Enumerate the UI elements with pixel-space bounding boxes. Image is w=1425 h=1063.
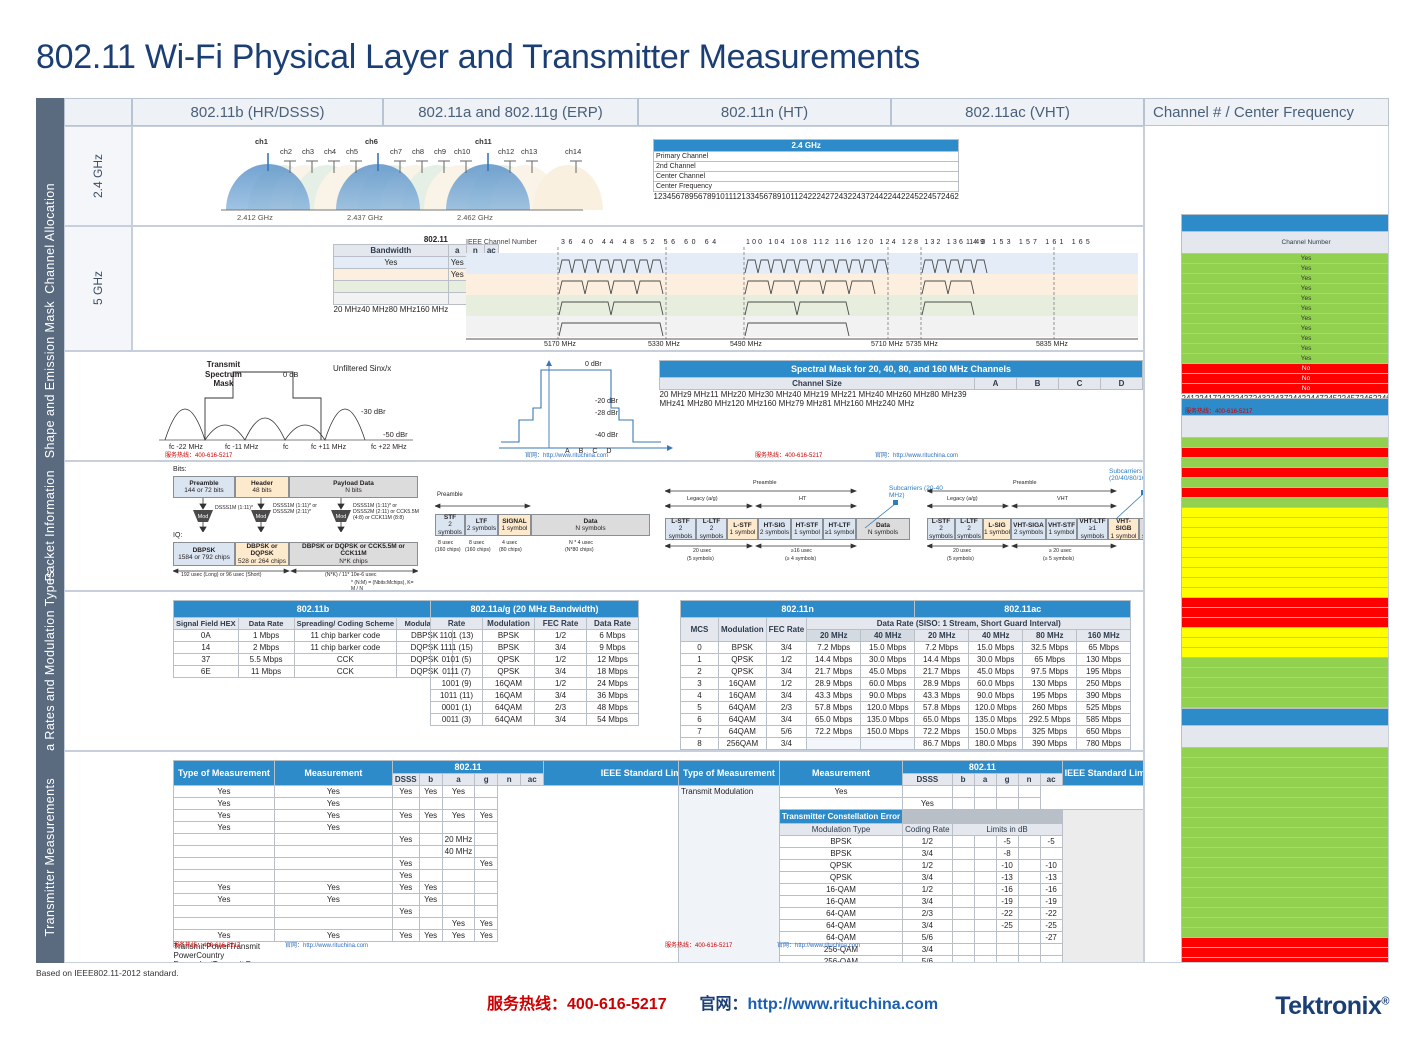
table-title: 5 GHz <box>1182 709 1390 726</box>
packet-diagram-11b: Bits: Preamble144 or 72 bits Header48 bi… <box>173 466 418 588</box>
table-cell: 910111213 <box>711 192 750 201</box>
table-cell <box>1040 848 1062 860</box>
table-cell: BPSK <box>483 630 535 642</box>
row-label-text: Packet Information <box>43 470 57 581</box>
column-header: Type of Measurement <box>174 761 275 786</box>
table-cell: 780 Mbps <box>1077 738 1131 750</box>
table-cell <box>392 918 419 930</box>
table-row: YesYesIndoors <box>1182 748 1390 758</box>
table-row: YesYesYesYes <box>1182 354 1390 364</box>
table-cell: 24 Mbps <box>587 678 639 690</box>
table-row: Yes <box>174 870 744 882</box>
table-cell: 64-QAM <box>779 920 902 932</box>
table-cell: Yes <box>1182 888 1390 898</box>
inline-ritu-web-3: 官网：http://www.rituchina.com <box>285 940 368 949</box>
website-url[interactable]: http://www.rituchina.com <box>748 996 939 1013</box>
table-row: YesYes <box>174 858 744 870</box>
table-cell: 292.5 Mbps <box>1023 714 1077 726</box>
table-cell <box>392 798 419 810</box>
table-cell <box>419 870 442 882</box>
table-row: YesDFS/TPCIndoors <box>1182 828 1390 838</box>
ch-label: ch11 <box>475 137 492 146</box>
table-row: YesYes <box>174 918 744 930</box>
table-cell: DFS <box>1182 588 1390 598</box>
table-cell: 5 <box>681 702 719 714</box>
table-row: YesYesYesYes <box>1182 344 1390 354</box>
ac-box-0: L-STF2 symbols <box>927 518 955 540</box>
table-cell <box>174 870 275 882</box>
table-cell: CCK <box>294 654 397 666</box>
chan-5-b-table-wrap: 5 GHzChannel NumberCenter FrequencyKorea… <box>1181 708 1389 963</box>
table-cell: 72.2 Mbps <box>807 726 861 738</box>
rates-11ag-table: 802.11a/g (20 MHz Bandwidth)RateModulati… <box>430 600 639 726</box>
table-cell: -19 <box>1040 896 1062 908</box>
table-cell <box>442 798 475 810</box>
table-cell: 3 <box>681 678 719 690</box>
table-cell: Yes <box>1182 458 1390 468</box>
table-row: 375.5 MbpsCCKDQPSK <box>174 654 453 666</box>
table-cell: 24422442245224572462 <box>870 192 959 201</box>
column-header: Channel Number <box>1182 416 1390 438</box>
table-cell: Yes <box>174 798 275 810</box>
table-cell: -25 <box>1040 920 1062 932</box>
table-cell: No <box>1182 488 1390 498</box>
table-cell: Yes <box>174 882 275 894</box>
table-cell <box>1018 920 1040 932</box>
ofdm-spectrum-mask-diagram <box>489 356 679 456</box>
table-row: YesYesYesYes <box>1182 324 1390 334</box>
iq-box-2: DBPSK or DQPSK or CCK5.5M or CCK11MN*K c… <box>289 542 418 566</box>
table-row: 416QAM3/443.3 Mbps90.0 Mbps43.3 Mbps90.0… <box>681 690 1131 702</box>
table-title-ac: 802.11ac <box>915 601 1131 618</box>
table-cell: 3/4 <box>766 690 807 702</box>
dsss-unfiltered-label: Unfiltered Sinx/x <box>333 364 391 373</box>
table-cell: 120.0 Mbps <box>861 702 915 714</box>
bits-label: Bits: <box>173 466 187 473</box>
band-label-text: 5 GHz <box>91 271 105 305</box>
table-row: YesYesIndoors <box>1182 808 1390 818</box>
table-cell: Yes <box>334 257 449 269</box>
table-header-row: Channel NumberCenter FrequencyNorth Amer… <box>1182 232 1390 254</box>
table-cell: 11 chip barker code <box>294 630 397 642</box>
column-header: MCS <box>681 618 719 642</box>
table-cell: 78910111213 <box>702 192 750 201</box>
column-header: Modulation <box>483 618 535 630</box>
mod-note-1: DSSS1M (1:11)* or DSSS2M (2:11)* <box>273 504 325 516</box>
dsss-mask-label-l1: Transmit <box>207 360 240 369</box>
table-cell: 1/2 <box>903 860 952 872</box>
table-cell: 32.5 Mbps <box>1023 642 1077 654</box>
table-row: YesSRDNoYes <box>1182 688 1390 698</box>
table-cell <box>475 870 498 882</box>
table-cell: 90.0 Mbps <box>969 690 1023 702</box>
row-label-text: Data Rates and Modulation Types <box>43 571 57 771</box>
table-cell <box>174 834 275 846</box>
column-header: B <box>1017 378 1059 390</box>
table-cell: DFS <box>1182 638 1390 648</box>
packet-diagram-11n: Preamble Legacy (a/g) HT L-STF2 symbols … <box>665 480 910 575</box>
table-cell: 9 Mbps <box>587 642 639 654</box>
n-box-2: L-STF1 symbol <box>727 518 758 540</box>
table-cell <box>952 896 974 908</box>
table-row: Transmit ModulationYes <box>679 786 1145 798</box>
table-cell: 45.0 Mbps <box>969 666 1023 678</box>
table-cell: -16 <box>996 884 1018 896</box>
ch-label: ch9 <box>434 147 446 156</box>
table-cell <box>442 858 475 870</box>
table-row: DFSDFS/TPCDFS/TPCNo <box>1182 628 1390 638</box>
row-label: Primary Channel <box>654 152 959 162</box>
column-header: A <box>975 378 1017 390</box>
table-row: YesYesYesYes <box>1182 304 1390 314</box>
ofdm-level-28: -28 dBr <box>595 410 618 417</box>
table-cell <box>1018 872 1040 884</box>
table-row: YesYesYesYesYes <box>174 786 744 798</box>
table-row: 142 Mbps11 chip barker codeDQPSK <box>174 642 453 654</box>
table-cell: 3/4 <box>766 666 807 678</box>
table-cell: 64QAM <box>483 702 535 714</box>
table-cell <box>1018 836 1040 848</box>
column-header-11n: 802.11n (HT) <box>638 98 891 126</box>
table-cell: Yes <box>392 882 419 894</box>
column-header: Data Rate <box>238 618 294 630</box>
table-cell: BPSK <box>779 848 902 860</box>
n-legacy-label: Legacy (a/g) <box>687 496 718 502</box>
column-header: C <box>1059 378 1101 390</box>
table-cell: Yes <box>475 930 498 942</box>
channel-allocation-5-cell: 802.11 BandwidthanacYesYesYesYesYesYesYe… <box>132 226 1144 351</box>
table-row: 1101 (13)BPSK1/26 Mbps <box>431 630 639 642</box>
table-row: DFSIndoors/DFS/TPCDFS/TPCYes <box>1182 528 1390 538</box>
spacer-cell <box>1062 810 1144 964</box>
table-cell: 16QAM <box>719 690 767 702</box>
column-header: a <box>448 245 466 257</box>
table-cell: DFS <box>1182 518 1390 528</box>
type-label: Transmit Modulation <box>679 786 780 964</box>
table-cell <box>952 956 974 964</box>
table-cell <box>174 906 275 918</box>
ch-label: ch8 <box>412 147 424 156</box>
tx-meas-left-table: Type of MeasurementMeasurement802.11IEEE… <box>173 760 744 963</box>
table-cell: 65.0 Mbps <box>915 714 969 726</box>
table-cell: 3/4 <box>535 642 587 654</box>
column-header: Rate <box>431 618 483 630</box>
table-cell: Yes <box>1182 698 1390 708</box>
table-cell: Yes <box>1182 284 1390 294</box>
data-rates-cell: 802.11bSignal Field HEXData RateSpreadin… <box>64 591 1144 751</box>
packet-diagram-11ag: Preamble STF2 symbols LTF2 symbols SIGNA… <box>435 492 650 572</box>
table-cell: 5/6 <box>766 726 807 738</box>
table-row: 0101 (5)QPSK1/212 Mbps <box>431 654 639 666</box>
table-cell: CCK <box>294 666 397 678</box>
table-cell: Yes <box>1182 438 1390 448</box>
table-cell: Yes <box>1182 828 1390 838</box>
table-cell: 1 Mbps <box>238 630 294 642</box>
dsss-tick: fc +22 MHz <box>371 444 407 451</box>
table-title: 2.4 GHz <box>654 140 959 152</box>
table-cell: 243724422442245224572462 <box>852 192 959 201</box>
table-cell <box>974 872 996 884</box>
table-cell <box>861 738 915 750</box>
table-cell <box>174 918 275 930</box>
table-cell: 28.9 Mbps <box>915 678 969 690</box>
table-cell <box>442 870 475 882</box>
freq-label: 2.412 GHz <box>237 213 273 222</box>
table-cell <box>1018 908 1040 920</box>
table-row: YesSRDNoYes <box>1182 658 1390 668</box>
table-cell: 1 <box>681 654 719 666</box>
table-row: DFSDFS/TPCDFS/TPCNo <box>1182 588 1390 598</box>
table-cell: 64QAM <box>483 714 535 726</box>
table-cell <box>807 738 861 750</box>
table-row: DFSDFS/TPCDFS/TPCNo <box>1182 648 1390 658</box>
table-cell: Yes <box>1182 788 1390 798</box>
ofdm-level-0: 0 dBr <box>585 361 602 368</box>
table-title: Spectral Mask for 20, 40, 80, and 160 MH… <box>660 361 1143 378</box>
table-row: YesYesYesYes <box>1182 334 1390 344</box>
column-header: FEC Rate <box>535 618 587 630</box>
table-cell: Yes <box>475 918 498 930</box>
table-cell: Yes <box>174 786 275 798</box>
svg-text:Mod: Mod <box>198 514 209 520</box>
table-cell: 30.0 Mbps <box>969 654 1023 666</box>
table-cell: Yes <box>1182 344 1390 354</box>
table-row: YesYesYesYes <box>1182 284 1390 294</box>
ch-label: ch14 <box>565 147 581 156</box>
table-cell: Yes <box>274 798 392 810</box>
row-label-spectral: Spectral Shape and Emission Mask <box>36 351 64 461</box>
table-cell <box>392 822 419 834</box>
svg-text:Mod: Mod <box>256 514 267 520</box>
table-cell <box>974 798 996 810</box>
ag-box-1: LTF2 symbols <box>465 514 498 536</box>
freq-mark: 5710 MHz <box>871 341 903 348</box>
table-cell: Yes <box>419 930 442 942</box>
dsss-50dbr: -50 dBr <box>383 430 408 439</box>
spectral-mask-table: Spectral Mask for 20, 40, 80, and 160 MH… <box>659 360 1143 408</box>
table-cell: Yes <box>392 870 419 882</box>
table-cell <box>475 786 498 798</box>
spectral-shape-cell: Transmit Spectrum Mask 0 dB Unfiltered S… <box>64 351 1144 461</box>
n-preamble-label: Preamble <box>753 480 777 486</box>
table-cell: Yes <box>419 894 442 906</box>
dsss-0db: 0 dB <box>283 370 298 379</box>
table-row: YesNoIndoors <box>1182 778 1390 788</box>
table-row: DFSDFS/TPCDFS/TPCYes <box>1182 538 1390 548</box>
table-cell: 4 <box>681 690 719 702</box>
table-row: 764QAM5/672.2 Mbps150.0 Mbps72.2 Mbps150… <box>681 726 1131 738</box>
ch-label: ch6 <box>365 137 378 146</box>
freq-mark: 5835 MHz <box>1036 341 1068 348</box>
table-cell: 390 Mbps <box>1077 690 1131 702</box>
table-cell: -22 <box>1040 908 1062 920</box>
channel-bandwidth-bands <box>466 247 1138 351</box>
table-cell: 23456789 <box>658 192 694 201</box>
table-cell: No <box>1182 448 1390 458</box>
table-cell <box>475 894 498 906</box>
table-cell <box>475 906 498 918</box>
table-cell: 5/6 <box>903 956 952 964</box>
table-cell: 91011 <box>777 192 799 201</box>
table-row: 664QAM3/465.0 Mbps135.0 Mbps65.0 Mbps135… <box>681 714 1131 726</box>
table-row: 8256QAM3/486.7 Mbps180.0 Mbps390 Mbps780… <box>681 738 1131 750</box>
ac-box-2: L-SIG1 symbol <box>983 518 1011 540</box>
table-cell: Yes <box>1182 768 1390 778</box>
table-cell: 245224572462 <box>905 192 958 201</box>
ac-legacy-label: Legacy (a/g) <box>947 496 978 502</box>
table-cell: 150.0 Mbps <box>969 726 1023 738</box>
table-cell: -19 <box>996 896 1018 908</box>
grid-corner <box>36 98 64 126</box>
table-row: YesYesYesYes <box>1182 264 1390 274</box>
table-cell: 1213 <box>732 192 750 201</box>
table-cell: Yes <box>1182 314 1390 324</box>
table-cell <box>334 293 449 305</box>
table-cell: 3/4 <box>766 714 807 726</box>
sub-header: g <box>996 774 1018 786</box>
table-cell: Yes <box>1182 688 1390 698</box>
table-cell: Yes <box>1182 658 1390 668</box>
table-row: DFSDFS/TPCDFS/TPCYes <box>1182 548 1390 558</box>
table-cell: 256-QAM <box>779 956 902 964</box>
svg-text:Mod: Mod <box>336 514 347 520</box>
table-row: YesYesYesYes <box>1182 294 1390 304</box>
table-cell <box>974 884 996 896</box>
inline-ritu-web-4: 官网：http://www.rituchina.com <box>777 940 860 949</box>
table-cell: 585 Mbps <box>1077 714 1131 726</box>
table-cell: 65.0 Mbps <box>807 714 861 726</box>
table-cell: 54 Mbps <box>587 714 639 726</box>
table-cell: Yes <box>1182 324 1390 334</box>
table-cell <box>419 798 442 810</box>
table-row: YesYesYesYes <box>1182 314 1390 324</box>
table-cell: 3456789 <box>662 192 693 201</box>
freq-mark: 5735 MHz <box>906 341 938 348</box>
column-header: Channel Number <box>1182 726 1390 748</box>
table-cell: 0011 (3) <box>431 714 483 726</box>
table-row: Yes20 MHz <box>174 834 744 846</box>
table-cell: 81 MHz160 MHz240 MHz <box>823 399 915 408</box>
table-cell: Yes <box>903 798 952 810</box>
table-cell: Yes <box>1182 304 1390 314</box>
table-cell: 1/2 <box>903 884 952 896</box>
table-cell: 15.0 Mbps <box>861 642 915 654</box>
table-cell: 789 <box>680 192 693 201</box>
table-cell: 57.8 Mbps <box>807 702 861 714</box>
table-cell: -16 <box>1040 884 1062 896</box>
table-cell <box>274 870 392 882</box>
table-cell: No <box>1182 618 1390 628</box>
table-cell: 36 Mbps <box>587 690 639 702</box>
table-cell: 678910111213 <box>698 192 750 201</box>
ac-time-1: ≥ 20 usec <box>1049 548 1071 554</box>
table-cell: Yes <box>392 858 419 870</box>
table-cell: 9 MHz11 MHz20 MHz30 MHz <box>687 390 792 399</box>
table-cell: Yes <box>1182 838 1390 848</box>
ch-label: ch5 <box>346 147 358 156</box>
table-cell: 3/4 <box>903 872 952 884</box>
column-header: Channel Number <box>1182 232 1390 254</box>
table-cell: Yes <box>1182 748 1390 758</box>
table-cell: 57.8 Mbps <box>915 702 969 714</box>
table-cell: 8 <box>681 738 719 750</box>
table-cell: 2 Mbps <box>238 642 294 654</box>
column-header: 802.11 <box>392 761 543 774</box>
table-cell: Yes <box>1182 354 1390 364</box>
iq-box-0: DBPSK1584 or 792 chips <box>173 542 235 566</box>
mod-note-0: DSSS1M (1:11)* <box>215 506 253 512</box>
table-cell: Yes <box>274 786 392 798</box>
table-cell: 2/3 <box>766 702 807 714</box>
bw-header: 20 MHz <box>807 630 861 642</box>
table-cell: 60.0 Mbps <box>861 678 915 690</box>
sub-header: n <box>1018 774 1040 786</box>
table-row: YesSRDNoYes <box>1182 678 1390 688</box>
table-row: Center Channel <box>654 172 959 182</box>
table-cell <box>952 848 974 860</box>
table-cell <box>419 906 442 918</box>
table-cell: No <box>1182 958 1390 964</box>
table-cell: 72.2 Mbps <box>915 726 969 738</box>
table-cell: 60 MHz <box>903 390 931 399</box>
table-cell: 48 Mbps <box>587 702 639 714</box>
table-cell: -13 <box>1040 872 1062 884</box>
page-title: 802.11 Wi-Fi Physical Layer and Transmit… <box>36 38 920 77</box>
table-cell: 120 MHz <box>731 399 763 408</box>
table-cell: 2432243724422442245224572462 <box>834 192 959 201</box>
table-cell: 1011 <box>781 192 798 201</box>
table-cell: 1/2 <box>766 654 807 666</box>
table-cell: Yes <box>779 786 902 798</box>
table-cell <box>1040 944 1062 956</box>
table-cell: Yes <box>392 810 419 822</box>
table-cell <box>419 834 442 846</box>
table-cell <box>974 932 996 944</box>
n-sym-0: (5 symbols) <box>687 556 714 562</box>
table-cell: 456789 <box>667 192 694 201</box>
table-header-row: RateModulationFEC RateData Rate <box>431 618 639 630</box>
table-cell: 1101 (13) <box>431 630 483 642</box>
table-header-row: Channel NumberCenter FrequencyKoreaAustr… <box>1182 726 1390 748</box>
rates-11b-table: 802.11bSignal Field HEXData RateSpreadin… <box>173 600 453 678</box>
ch-label: ch12 <box>498 147 514 156</box>
table-cell: 7891011 <box>768 192 799 201</box>
table-cell: 6 Mbps <box>587 630 639 642</box>
table-cell <box>996 932 1018 944</box>
table-cell: Yes <box>274 822 392 834</box>
table-cell: -10 <box>1040 860 1062 872</box>
table-cell: 0111 (7) <box>431 666 483 678</box>
ac-preamble-label: Preamble <box>1013 480 1037 486</box>
table-cell: 24572462 <box>923 192 959 201</box>
poster-root: RITU RITU RITU RITU RITU RITU 日图科技 日图科技 … <box>0 0 1425 1063</box>
tx-meas-right-table: Type of MeasurementMeasurement802.11IEEE… <box>678 760 1144 963</box>
table-cell <box>475 846 498 858</box>
table-cell: DFS <box>1182 508 1390 518</box>
table-cell <box>974 896 996 908</box>
table-cell <box>274 834 392 846</box>
table-cell: 20 MHz9 MHz11 MHz20 MHz30 MHz <box>660 390 793 399</box>
ch-label: ch3 <box>302 147 314 156</box>
table-cell: Yes <box>475 810 498 822</box>
table-cell: BPSK <box>719 642 767 654</box>
column-header: Signal Field HEX <box>174 618 239 630</box>
table-cell: Yes <box>1182 334 1390 344</box>
table-cell: Yes <box>448 257 466 269</box>
table-cell: 16-QAM <box>779 884 902 896</box>
packet-b-footnote: * (N:M) = (Nbits:Mchips), K= M / N <box>351 580 418 591</box>
table-cell <box>392 894 419 906</box>
